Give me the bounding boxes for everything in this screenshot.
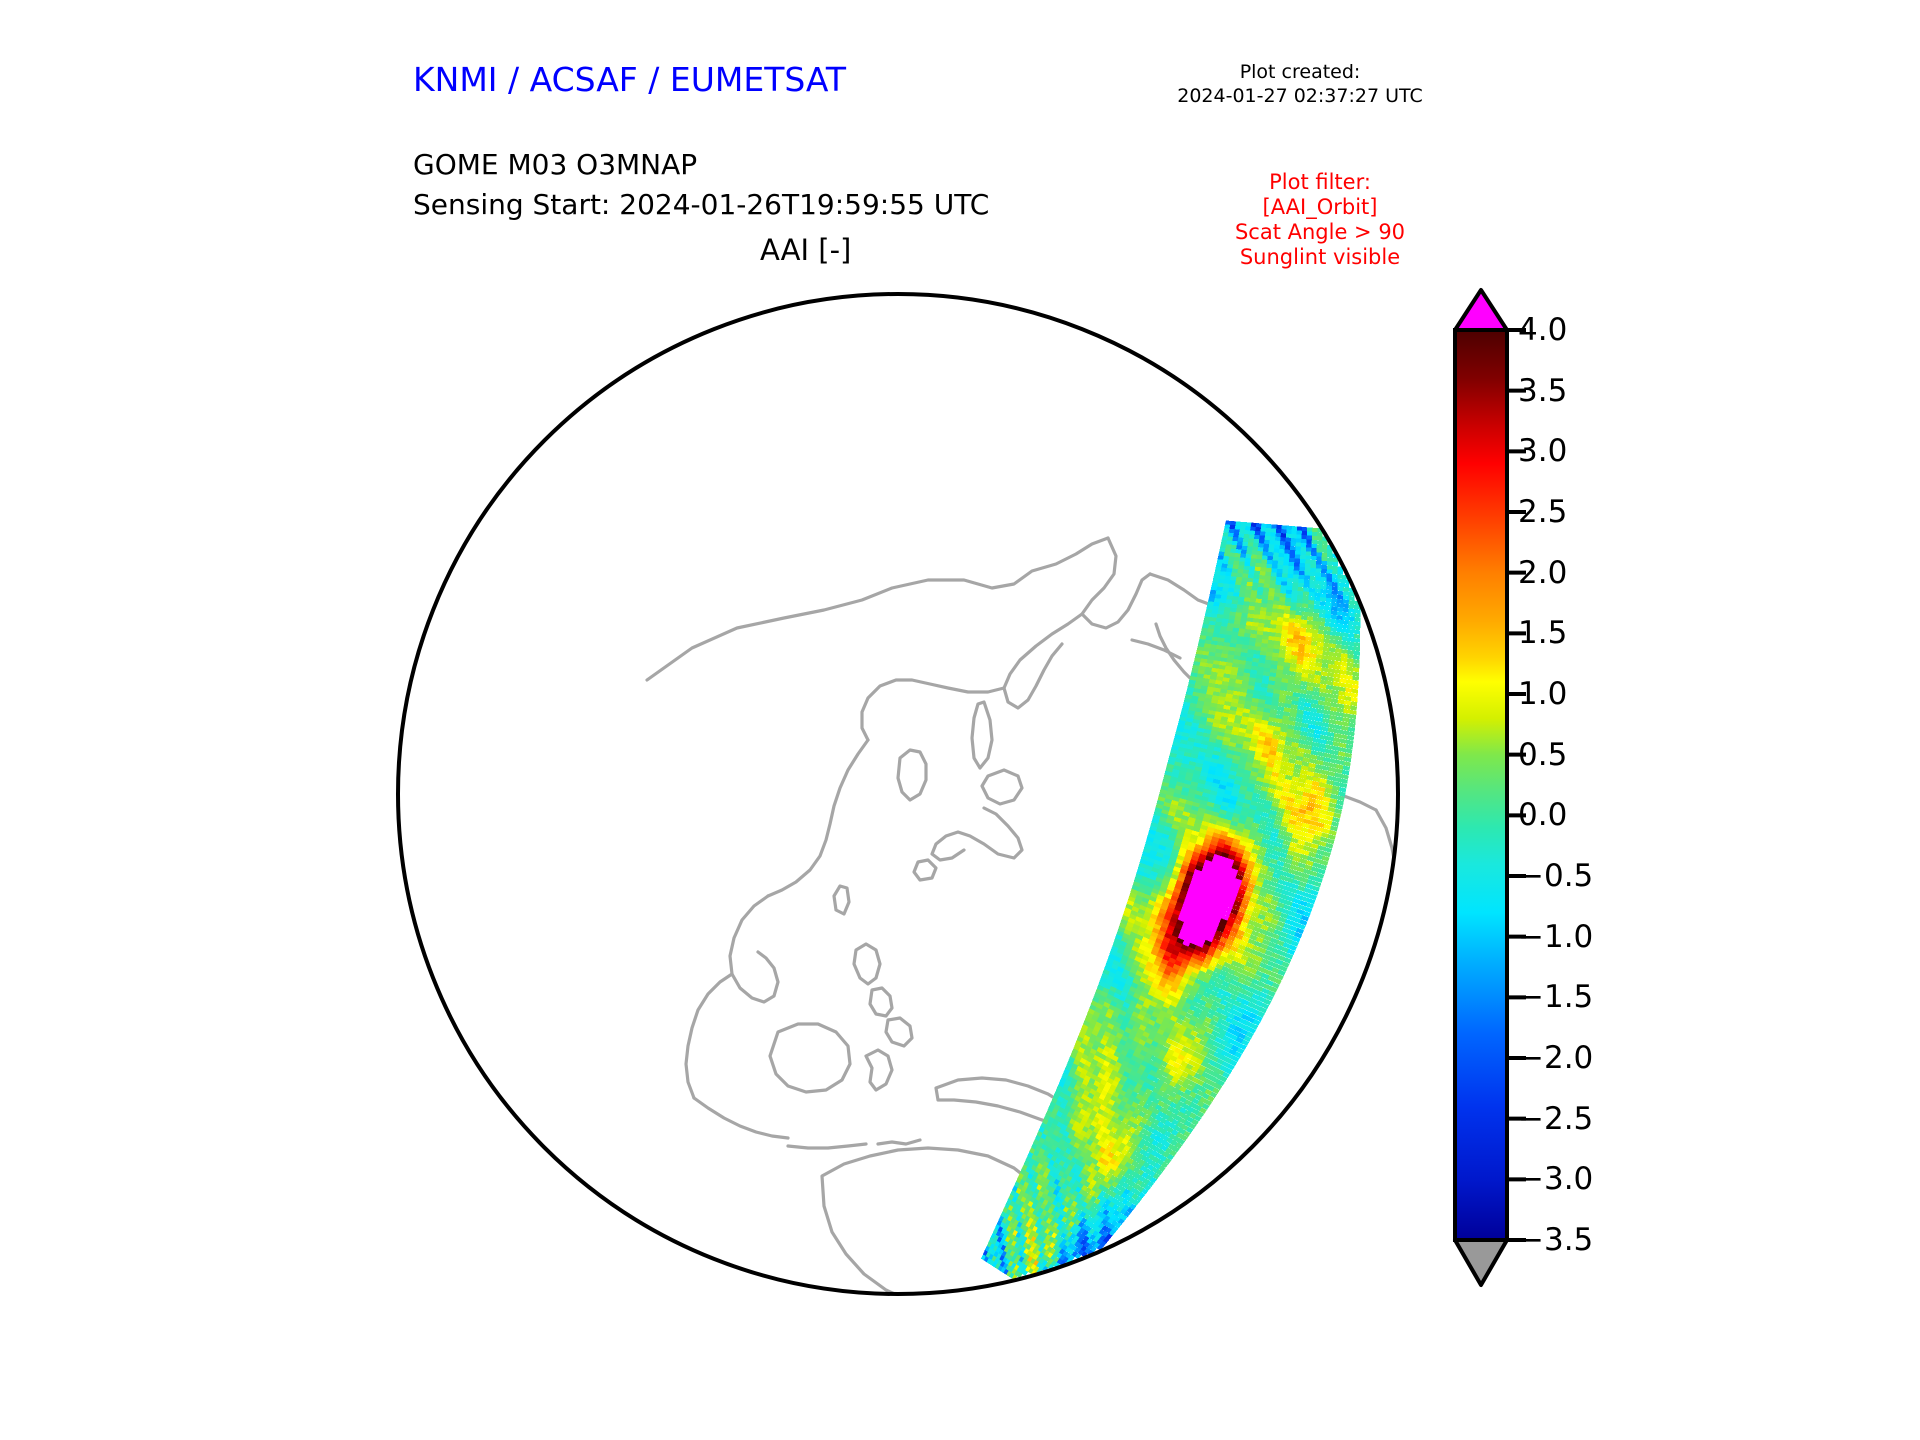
colorbar-tick-label: 1.5: [1518, 615, 1567, 651]
product-info-block: GOME M03 O3MNAP Sensing Start: 2024-01-2…: [413, 145, 989, 225]
sensing-start: Sensing Start: 2024-01-26T19:59:55 UTC: [413, 185, 989, 225]
colorbar-tick-label: 1.0: [1518, 676, 1567, 712]
colorbar-under-arrow: [1455, 1240, 1507, 1285]
coast-antarctica-bottom: [1034, 1298, 1290, 1300]
colorbar-tick-label: −2.0: [1518, 1040, 1593, 1076]
plot-filter-block: Plot filter: [AAI_Orbit] Scat Angle > 90…: [1175, 170, 1465, 270]
plot-created-block: Plot created: 2024-01-27 02:37:27 UTC: [1155, 60, 1445, 108]
colorbar-tick-label: 0.0: [1518, 797, 1567, 833]
colorbar-tick-label: 4.0: [1518, 312, 1567, 348]
coast-chile-south: [1314, 1172, 1330, 1232]
plot-filter-condition-scat-angle: Scat Angle > 90: [1175, 220, 1465, 245]
colorbar-tick-label: −1.5: [1518, 979, 1593, 1015]
colorbar-tick-label: 2.0: [1518, 555, 1567, 591]
globe-map: [392, 288, 1404, 1300]
colorbar-tick-label: 3.5: [1518, 373, 1567, 409]
colorbar-tick-label: 0.5: [1518, 737, 1567, 773]
colorbar-tick-label: −0.5: [1518, 858, 1593, 894]
page-title: AAI [-]: [760, 233, 851, 267]
colorbar-gradient-bar: [1455, 330, 1507, 1240]
colorbar: 4.03.53.02.52.01.51.00.50.0−0.5−1.0−1.5−…: [1440, 285, 1670, 1325]
product-name: GOME M03 O3MNAP: [413, 145, 989, 185]
plot-filter-condition-sunglint: Sunglint visible: [1175, 245, 1465, 270]
orthographic-globe-svg: [392, 288, 1404, 1300]
colorbar-tick-label: −3.5: [1518, 1222, 1593, 1258]
colorbar-over-arrow: [1455, 290, 1507, 330]
organisation-title: KNMI / ACSAF / EUMETSAT: [413, 60, 846, 99]
colorbar-tick-label: 2.5: [1518, 494, 1567, 530]
plot-filter-label: Plot filter:: [1175, 170, 1465, 195]
plot-created-time: 2024-01-27 02:37:27 UTC: [1155, 84, 1445, 108]
colorbar-tick-label: −1.0: [1518, 919, 1593, 955]
colorbar-tick-label: 3.0: [1518, 433, 1567, 469]
plot-filter-name: [AAI_Orbit]: [1175, 195, 1465, 220]
coast-nz-north: [1150, 1288, 1178, 1300]
colorbar-tick-label: −2.5: [1518, 1101, 1593, 1137]
colorbar-tick-label: −3.0: [1518, 1161, 1593, 1197]
plot-created-label: Plot created:: [1155, 60, 1445, 84]
